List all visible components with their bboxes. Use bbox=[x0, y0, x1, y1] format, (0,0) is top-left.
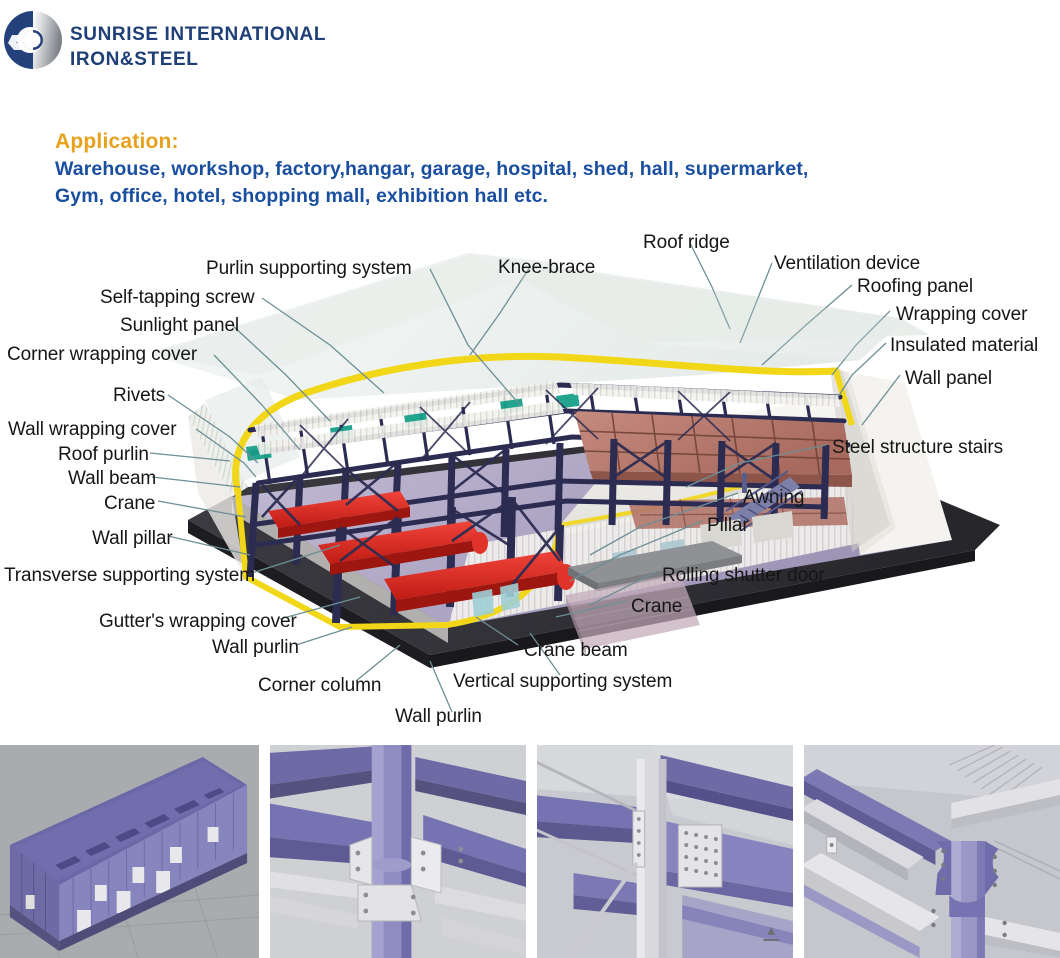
application-line-2: Gym, office, hotel, shopping mall, exhib… bbox=[55, 183, 1055, 210]
callout-crane-beam: Crane beam bbox=[524, 640, 628, 662]
logo-line-1: SUNRISE INTERNATIONAL bbox=[70, 22, 470, 47]
thumbnail-purlin-column-node-detail[interactable] bbox=[801, 745, 1060, 958]
warehouse-exterior-render-icon bbox=[0, 745, 259, 958]
callout-sunlight-panel: Sunlight panel bbox=[120, 315, 239, 337]
thumbnail-warehouse-exterior-render[interactable] bbox=[0, 745, 259, 958]
thumbnail-bolted-beam-column-joint[interactable] bbox=[534, 745, 793, 958]
application-heading: Application: bbox=[55, 128, 1055, 156]
callout-purlin-supporting-system: Purlin supporting system bbox=[206, 258, 412, 280]
warehouse-cutaway-diagram: Purlin supporting system Self-tapping sc… bbox=[0, 225, 1060, 740]
callout-gutters-wrapping-cover: Gutter's wrapping cover bbox=[99, 611, 297, 633]
callout-wrapping-cover: Wrapping cover bbox=[896, 304, 1027, 326]
callout-transverse-supporting-system: Transverse supporting system bbox=[4, 565, 255, 587]
callout-wall-panel: Wall panel bbox=[905, 368, 992, 390]
logo-line-2: IRON&STEEL bbox=[70, 47, 470, 72]
company-logo-wordmark: SUNRISE INTERNATIONAL IRON&STEEL bbox=[70, 22, 470, 72]
callout-rivets: Rivets bbox=[113, 385, 165, 407]
purlin-node-detail-icon bbox=[801, 745, 1060, 958]
bolted-joint-icon bbox=[534, 745, 793, 958]
page-header: SUNRISE INTERNATIONAL IRON&STEEL bbox=[0, 0, 1060, 110]
callout-roof-purlin: Roof purlin bbox=[58, 444, 149, 466]
callout-wall-beam: Wall beam bbox=[68, 468, 156, 490]
callout-crane-left: Crane bbox=[104, 493, 155, 515]
callout-self-tapping-screw: Self-tapping screw bbox=[100, 287, 255, 309]
application-section: Application: Warehouse, workshop, factor… bbox=[55, 128, 1055, 210]
callout-wall-purlin-upper: Wall purlin bbox=[212, 637, 299, 659]
callout-pillar: Pillar bbox=[707, 515, 749, 537]
callout-ventilation-device: Ventilation device bbox=[774, 253, 920, 275]
round-column-connection-icon bbox=[267, 745, 526, 958]
callout-wall-purlin-lower: Wall purlin bbox=[395, 706, 482, 728]
callout-vertical-supporting-system: Vertical supporting system bbox=[453, 671, 672, 693]
callout-steel-structure-stairs: Steel structure stairs bbox=[832, 437, 1003, 459]
company-logo-icon bbox=[2, 9, 64, 71]
callout-awning: Awning bbox=[743, 487, 804, 509]
callout-wall-wrapping-cover: Wall wrapping cover bbox=[8, 419, 176, 441]
callout-wall-pillar: Wall pillar bbox=[92, 528, 173, 550]
callout-corner-wrapping-cover: Corner wrapping cover bbox=[7, 344, 197, 366]
callout-crane-right: Crane bbox=[631, 596, 682, 618]
callout-rolling-shutter-door: Rolling shutter door bbox=[662, 565, 825, 587]
detail-photo-strip bbox=[0, 745, 1060, 958]
callout-insulated-material: Insulated material bbox=[890, 335, 1038, 357]
callout-knee-brace: Knee-brace bbox=[498, 257, 595, 279]
callout-roofing-panel: Roofing panel bbox=[857, 276, 973, 298]
callout-corner-column: Corner column bbox=[258, 675, 381, 697]
thumbnail-round-column-beam-connection[interactable] bbox=[267, 745, 526, 958]
application-line-1: Warehouse, workshop, factory,hangar, gar… bbox=[55, 156, 1055, 183]
callout-roof-ridge: Roof ridge bbox=[643, 232, 730, 254]
